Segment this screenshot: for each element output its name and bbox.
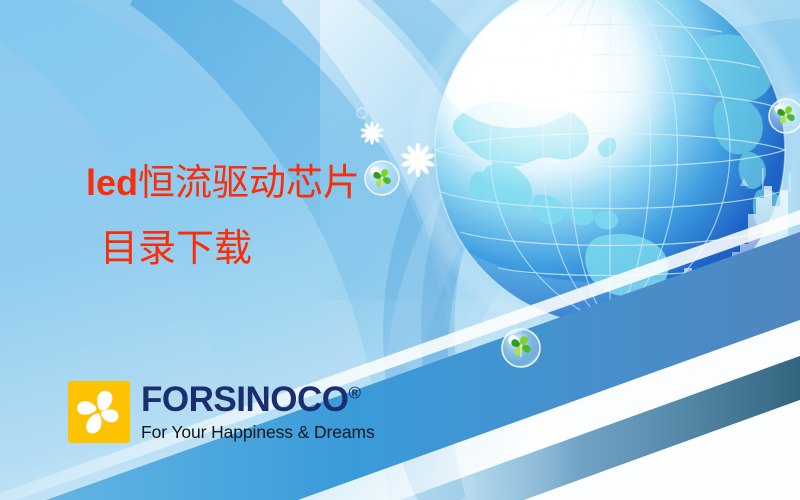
bubble-pinwheel-right bbox=[769, 99, 800, 133]
logo-wordmark: FORSINOCO® bbox=[141, 382, 375, 417]
banner-canvas: led恒流驱动芯片 目录下载 FORSINOCO® For Your Happi… bbox=[0, 0, 800, 500]
forsinoco-pinwheel-mark bbox=[68, 381, 130, 443]
company-logo[interactable]: FORSINOCO® For Your Happiness & Dreams bbox=[68, 381, 375, 443]
logo-tagline: For Your Happiness & Dreams bbox=[141, 424, 375, 442]
logo-text-block: FORSINOCO® For Your Happiness & Dreams bbox=[141, 381, 375, 442]
bubble-pinwheel-lower bbox=[502, 329, 540, 367]
logo-wordmark-text: FORSINOCO bbox=[141, 380, 348, 419]
bubble-pinwheel-left bbox=[365, 161, 399, 195]
registered-trademark-icon: ® bbox=[348, 383, 360, 402]
